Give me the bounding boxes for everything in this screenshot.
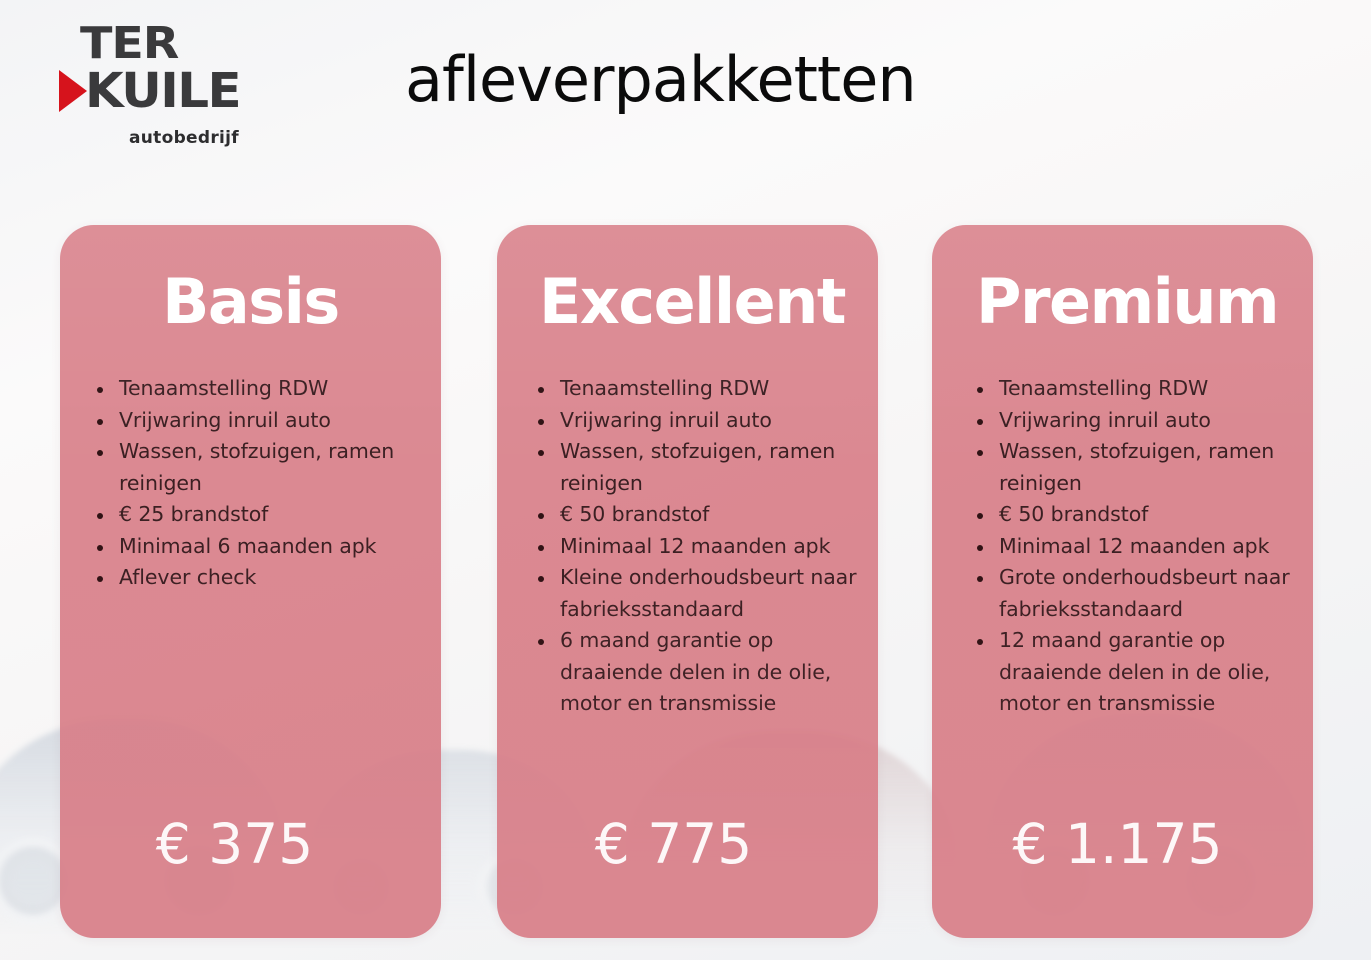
feature-item: Vrijwaring inruil auto [972,405,1307,437]
feature-item: € 25 brandstof [92,499,429,531]
feature-item: Minimaal 12 maanden apk [972,531,1307,563]
feature-item: 12 maand garantie op draaiende delen in … [972,625,1307,720]
pricing-card-basis[interactable]: Basis Tenaamstelling RDW Vrijwaring inru… [60,225,441,938]
feature-item: Minimaal 6 maanden apk [92,531,429,563]
feature-item: Wassen, stofzuigen, ramen reinigen [972,436,1307,499]
poster-header: TER KUILE autobedrijf afleverpakketten [0,0,1371,210]
pricing-card-price: € 775 [497,817,878,872]
feature-list: Tenaamstelling RDW Vrijwaring inruil aut… [533,373,872,720]
feature-item: Wassen, stofzuigen, ramen reinigen [92,436,429,499]
pricing-card-title: Basis [60,269,441,334]
company-logo: TER KUILE autobedrijf [57,22,257,134]
feature-item: Vrijwaring inruil auto [533,405,872,437]
poster-stage: TER KUILE autobedrijf afleverpakketten B… [0,0,1371,960]
feature-item: 6 maand garantie op draaiende delen in d… [533,625,872,720]
feature-item: € 50 brandstof [533,499,872,531]
feature-item: Tenaamstelling RDW [92,373,429,405]
feature-item: Wassen, stofzuigen, ramen reinigen [533,436,872,499]
logo-text-kuile: KUILE [85,67,240,115]
feature-list: Tenaamstelling RDW Vrijwaring inruil aut… [92,373,429,594]
feature-item: Vrijwaring inruil auto [92,405,429,437]
logo-text-ter: TER [80,22,178,66]
feature-item: Aflever check [92,562,429,594]
feature-item: Kleine onderhoudsbeurt naar fabrieksstan… [533,562,872,625]
pricing-card-premium[interactable]: Premium Tenaamstelling RDW Vrijwaring in… [932,225,1313,938]
pricing-card-price: € 1.175 [932,817,1313,872]
pricing-card-title: Excellent [497,269,878,334]
page-title: afleverpakketten [405,46,916,114]
pricing-card-price: € 375 [60,817,441,872]
feature-item: Grote onderhoudsbeurt naar fabrieksstand… [972,562,1307,625]
pricing-card-title: Premium [932,269,1313,334]
feature-item: € 50 brandstof [972,499,1307,531]
pricing-card-excellent[interactable]: Excellent Tenaamstelling RDW Vrijwaring … [497,225,878,938]
feature-item: Minimaal 12 maanden apk [533,531,872,563]
logo-subtitle: autobedrijf [129,130,239,147]
feature-list: Tenaamstelling RDW Vrijwaring inruil aut… [972,373,1307,720]
feature-item: Tenaamstelling RDW [533,373,872,405]
feature-item: Tenaamstelling RDW [972,373,1307,405]
